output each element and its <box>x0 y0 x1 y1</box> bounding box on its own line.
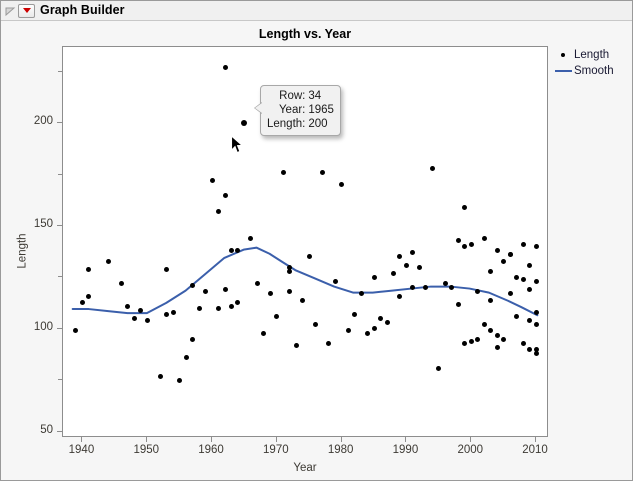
scatter-point[interactable] <box>488 269 493 274</box>
x-tick-mark <box>535 437 536 442</box>
scatter-point[interactable] <box>197 306 202 311</box>
legend-label: Smooth <box>574 65 614 77</box>
scatter-point[interactable] <box>521 277 526 282</box>
tooltip-row: Length: 200 <box>267 117 334 131</box>
x-tick-label: 2000 <box>447 445 493 457</box>
scatter-point[interactable] <box>216 306 221 311</box>
chart-region: Length vs. Year 50100150200 Length 19401… <box>1 21 632 480</box>
scatter-point[interactable] <box>223 287 228 292</box>
x-axis-title: Year <box>62 462 548 474</box>
triangle-collapse-icon[interactable] <box>4 5 16 17</box>
scatter-point[interactable] <box>534 279 539 284</box>
scatter-point[interactable] <box>534 244 539 249</box>
x-tick-label: 1990 <box>382 445 428 457</box>
scatter-point[interactable] <box>372 275 377 280</box>
chart-legend: Length Smooth <box>554 47 630 79</box>
scatter-point[interactable] <box>106 259 111 264</box>
x-tick-label: 1970 <box>253 445 299 457</box>
scatter-point[interactable] <box>132 316 137 321</box>
scatter-point[interactable] <box>521 242 526 247</box>
scatter-point[interactable] <box>495 345 500 350</box>
scatter-point[interactable] <box>501 337 506 342</box>
legend-item-smooth[interactable]: Smooth <box>554 63 630 78</box>
scatter-point[interactable] <box>294 343 299 348</box>
graph-builder-window: Graph Builder Length vs. Year 5010015020… <box>0 0 633 481</box>
scatter-point[interactable] <box>430 166 435 171</box>
scatter-point[interactable] <box>326 341 331 346</box>
tooltip-tail <box>255 103 262 113</box>
scatter-point[interactable] <box>171 310 176 315</box>
scatter-point[interactable] <box>145 318 150 323</box>
scatter-point[interactable] <box>508 252 513 257</box>
tooltip-key: Year: <box>279 103 305 117</box>
scatter-point[interactable] <box>482 236 487 241</box>
scatter-point[interactable] <box>475 337 480 342</box>
scatter-point[interactable] <box>391 271 396 276</box>
x-tick-mark <box>405 437 406 442</box>
y-tick-label: 100 <box>13 322 53 334</box>
scatter-point[interactable] <box>300 298 305 303</box>
scatter-point[interactable] <box>223 193 228 198</box>
scatter-point[interactable] <box>495 333 500 338</box>
scatter-point[interactable] <box>119 281 124 286</box>
panel-title: Graph Builder <box>40 4 125 17</box>
scatter-point[interactable] <box>534 310 539 315</box>
scatter-point[interactable] <box>456 238 461 243</box>
data-point-tooltip: Row: 34 Year: 1965 Length: 200 <box>260 85 341 136</box>
x-tick-label: 2010 <box>512 445 558 457</box>
scatter-point[interactable] <box>443 281 448 286</box>
scatter-point[interactable] <box>469 242 474 247</box>
x-tick-label: 1940 <box>58 445 104 457</box>
scatter-point[interactable] <box>184 355 189 360</box>
tooltip-key: Length: <box>267 117 305 131</box>
x-tick-mark <box>470 437 471 442</box>
scatter-point[interactable] <box>320 170 325 175</box>
x-tick-mark <box>146 437 147 442</box>
scatter-point[interactable] <box>456 302 461 307</box>
y-tick-label: 150 <box>13 219 53 231</box>
scatter-point[interactable] <box>333 279 338 284</box>
scatter-point[interactable] <box>223 65 228 70</box>
scatter-point[interactable] <box>521 341 526 346</box>
x-tick-label: 1950 <box>123 445 169 457</box>
y-axis-title: Length <box>17 233 29 268</box>
x-tick-mark <box>81 437 82 442</box>
x-tick-mark <box>341 437 342 442</box>
scatter-point[interactable] <box>80 300 85 305</box>
y-tick-label: 200 <box>13 116 53 128</box>
scatter-point[interactable] <box>281 170 286 175</box>
scatter-point[interactable] <box>164 267 169 272</box>
scatter-point[interactable] <box>527 263 532 268</box>
scatter-point[interactable] <box>229 304 234 309</box>
tooltip-value: 34 <box>308 89 334 103</box>
scatter-point[interactable] <box>404 263 409 268</box>
arrow-cursor-icon <box>230 135 244 155</box>
tooltip-value: 1965 <box>308 103 334 117</box>
legend-item-length[interactable]: Length <box>554 47 630 62</box>
legend-dot-icon <box>554 53 572 57</box>
tooltip-key: Row: <box>279 89 305 103</box>
legend-line-icon <box>554 70 572 72</box>
x-tick-mark <box>276 437 277 442</box>
x-tick-label: 1980 <box>318 445 364 457</box>
scatter-point[interactable] <box>534 322 539 327</box>
scatter-point[interactable] <box>488 298 493 303</box>
x-tick-label: 1960 <box>188 445 234 457</box>
panel-titlebar[interactable]: Graph Builder <box>1 1 632 21</box>
scatter-point[interactable] <box>86 294 91 299</box>
scatter-point[interactable] <box>190 337 195 342</box>
scatter-point[interactable] <box>495 248 500 253</box>
legend-label: Length <box>574 49 609 61</box>
red-dropdown-triangle-icon[interactable] <box>18 4 35 18</box>
tooltip-row: Year: 1965 <box>267 103 334 117</box>
tooltip-value: 200 <box>308 117 334 131</box>
scatter-point[interactable] <box>177 378 182 383</box>
scatter-point[interactable] <box>436 366 441 371</box>
scatter-point[interactable] <box>385 320 390 325</box>
x-tick-mark <box>211 437 212 442</box>
scatter-point[interactable] <box>210 178 215 183</box>
y-tick-label: 50 <box>13 425 53 437</box>
scatter-point[interactable] <box>158 374 163 379</box>
scatter-point[interactable] <box>469 339 474 344</box>
scatter-point[interactable] <box>501 259 506 264</box>
scatter-point[interactable] <box>365 331 370 336</box>
scatter-point[interactable] <box>261 331 266 336</box>
tooltip-row: Row: 34 <box>267 89 334 103</box>
chart-title: Length vs. Year <box>62 27 548 41</box>
scatter-point[interactable] <box>534 351 539 356</box>
scatter-point[interactable] <box>417 265 422 270</box>
